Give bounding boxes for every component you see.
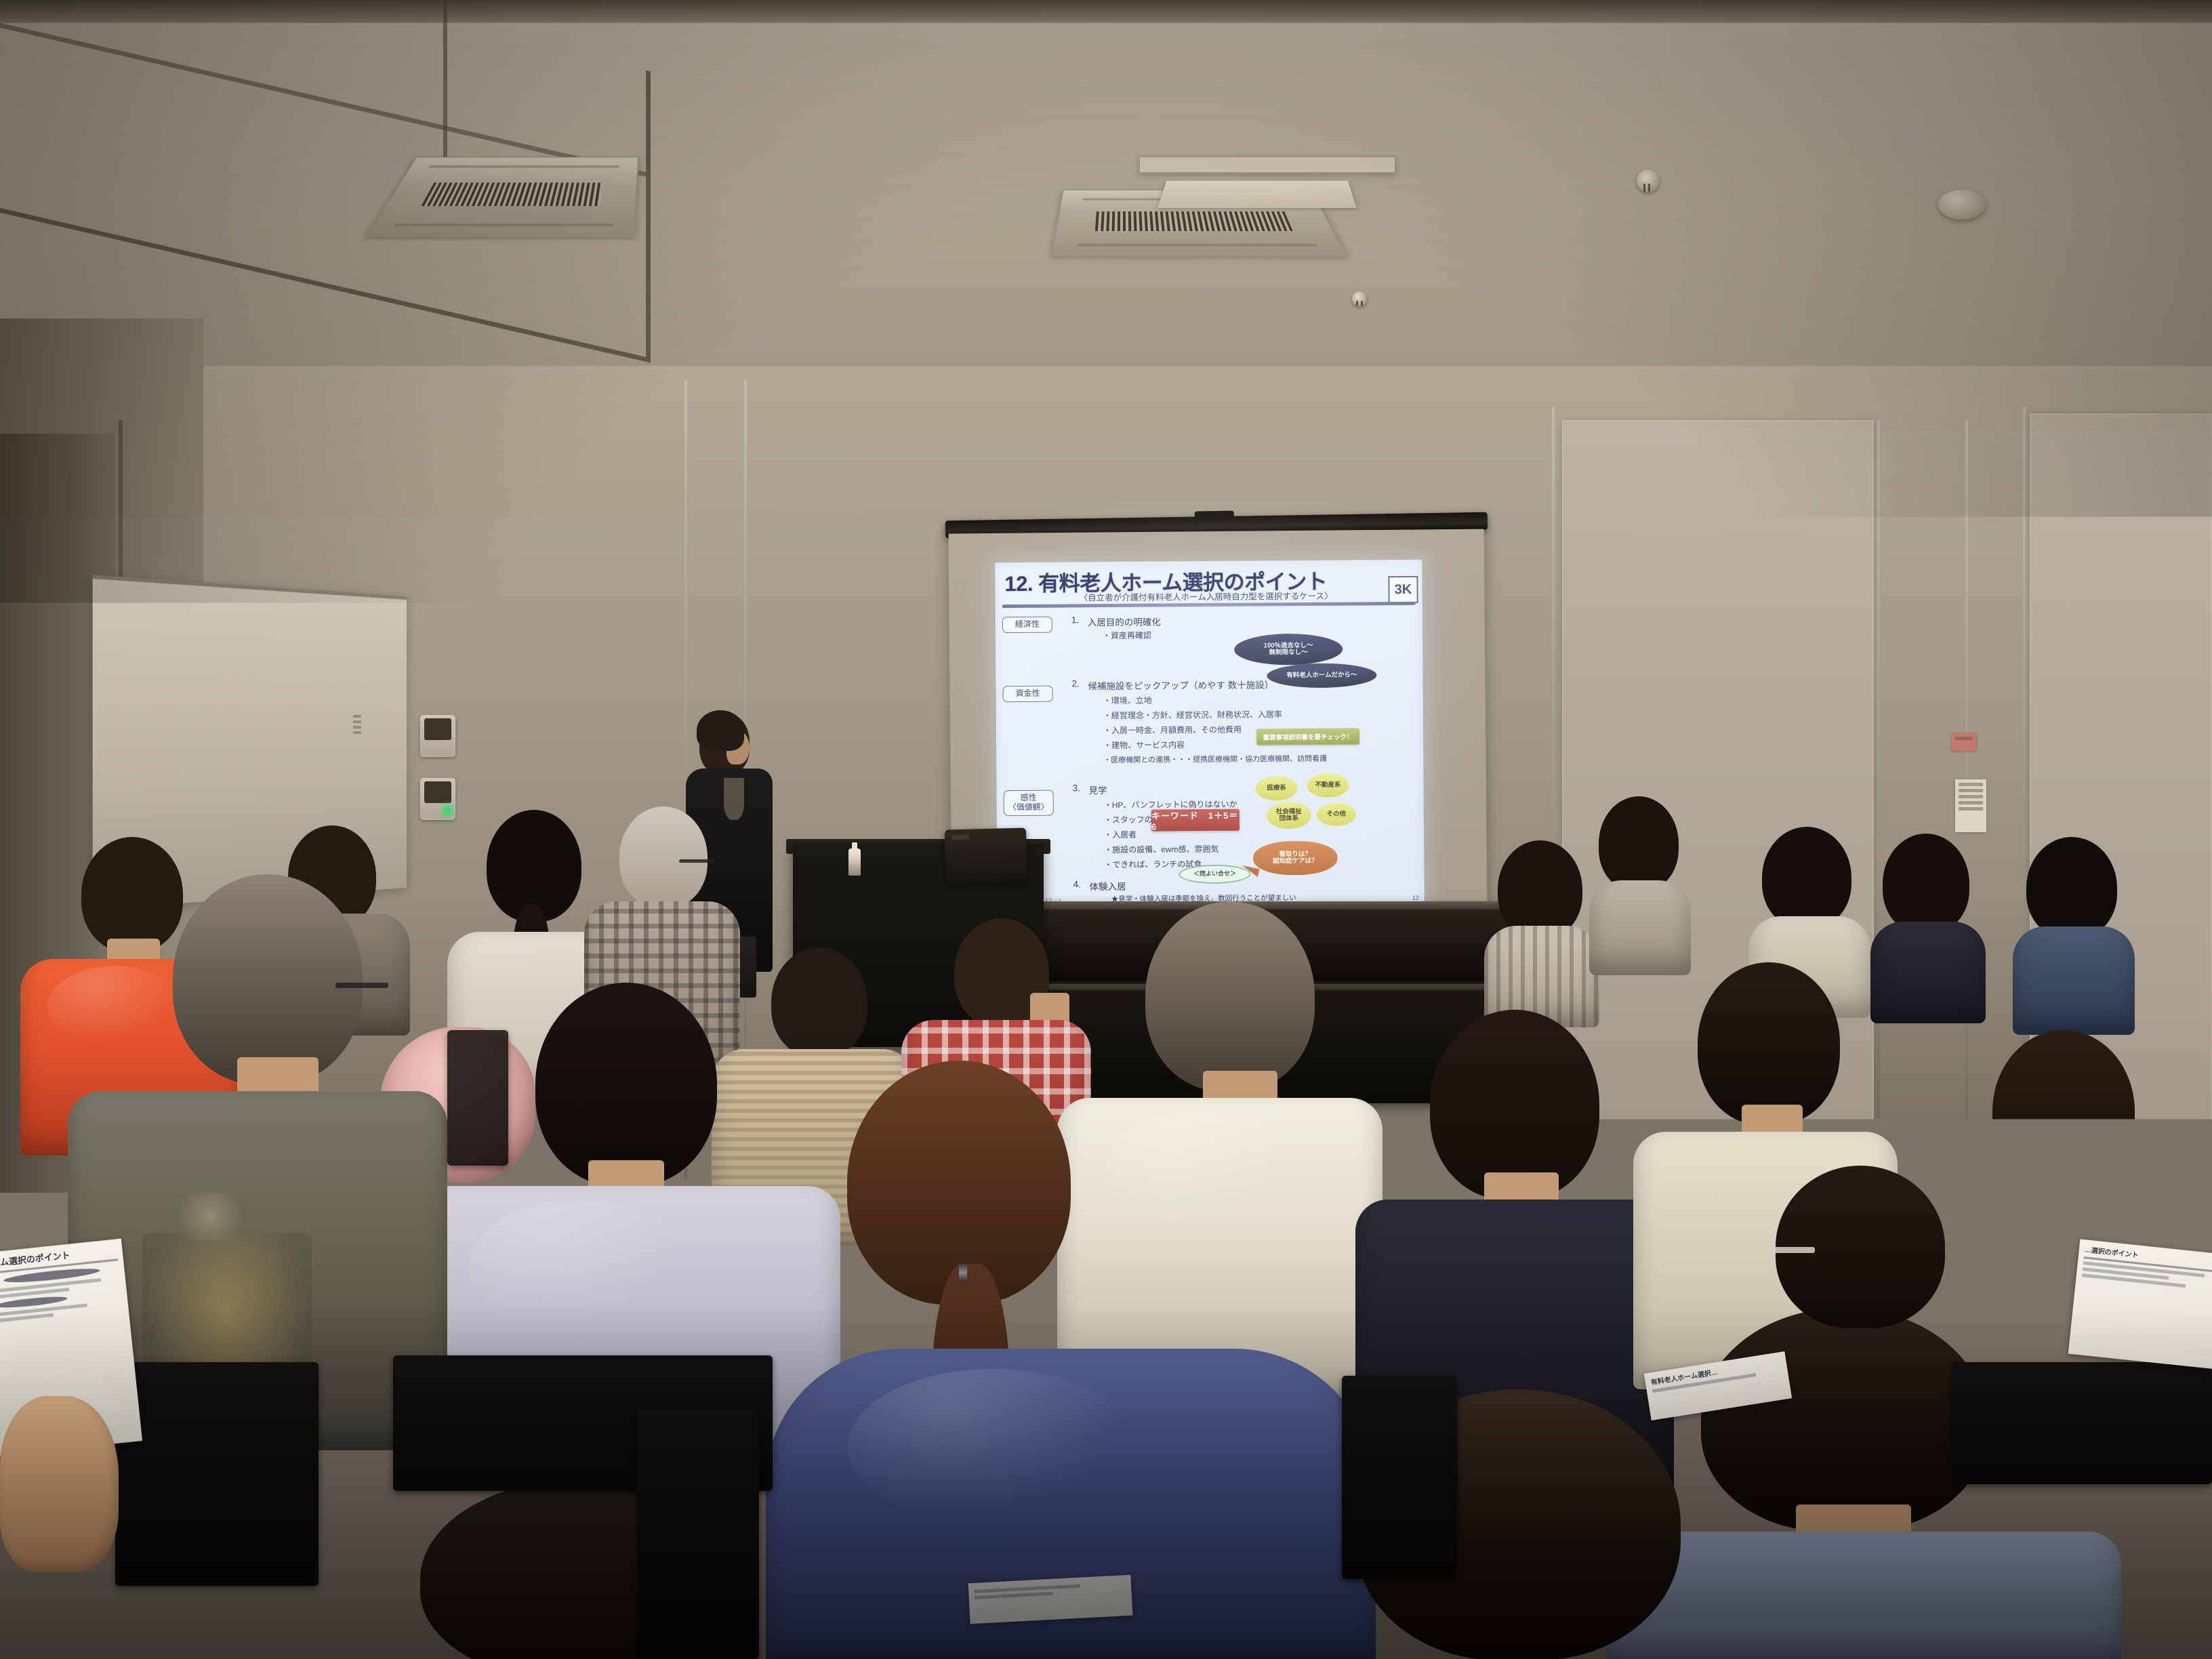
attendee-torso — [1589, 880, 1691, 975]
stacking-chair[interactable] — [447, 1030, 508, 1166]
slide-callout-yellow-3: 社会福祉 団体系 — [1267, 802, 1311, 829]
attendee-back-row — [1589, 796, 1691, 959]
slide-section-2-bullet-3: ・入居一時金、月額費用、その他費用 — [1103, 724, 1242, 736]
switch-button[interactable] — [424, 718, 451, 740]
slide-callout-green-bar: 重要事項説明書を要チェック！ — [1256, 728, 1359, 745]
stacking-chair[interactable] — [637, 1410, 759, 1659]
slide-callout-yellow-4: その他 — [1317, 802, 1356, 825]
attendee-head — [619, 806, 708, 908]
attendee-head — [1599, 796, 1679, 891]
wall-notice-sign — [350, 712, 365, 754]
eyeglasses — [679, 859, 714, 863]
slide-callout-yellow-2: 不動産系 — [1307, 773, 1349, 798]
tshirt-graphic-detail — [169, 1193, 251, 1240]
hand-holding-handout — [0, 1396, 119, 1572]
slide-subtitle: 〈自立者が介護付有料老人ホーム入居時自力型を選択するケース〉 — [1027, 588, 1386, 604]
hair-clip — [959, 1264, 967, 1282]
handout-far-right[interactable]: …選択のポイント — [2068, 1239, 2212, 1370]
slide-callout-mint-bubble: ＜問よい合せ＞ — [1179, 865, 1250, 884]
attendee-head — [1698, 962, 1840, 1125]
attendee-head — [1498, 840, 1582, 939]
sprinkler-head — [1637, 169, 1660, 192]
projected-slide: 12. 有料老人ホーム選択のポイント 3K 〈自立者が介護付有料老人ホーム入居時… — [995, 560, 1425, 907]
slide-section-2-heading: 候補施設をピックアップ（めやす 数十施設） — [1088, 677, 1273, 692]
wall-control-switch[interactable] — [420, 715, 455, 757]
hvac-vent — [1139, 156, 1396, 173]
sprinkler-head — [1352, 291, 1367, 306]
slide-badge: 3K — [1388, 576, 1418, 603]
attendee-head — [535, 983, 717, 1186]
presenter-hair — [697, 710, 744, 751]
slide-callout-red-bar: キーワード 1＋5＝6 — [1151, 809, 1240, 832]
slide-section-3-bullet-3: ・入居者 — [1104, 829, 1136, 840]
slide-section-1-heading: 入居目的の明確化 — [1088, 614, 1161, 628]
slide-tag-funding: 資金性 — [1003, 686, 1053, 702]
attendee-head — [173, 874, 363, 1084]
attendee-head — [1992, 1030, 2135, 1193]
slide-callout-navy-1: 100％退去なし～ 無制限なし～ — [1234, 634, 1343, 665]
slide-callout-orange-bubble: 看取りは？ 認知症ケアは？ — [1253, 841, 1337, 876]
slide-section-4-heading: 体験入居 — [1089, 879, 1126, 893]
stacking-chair[interactable] — [1952, 1362, 2212, 1484]
attendee-head — [1762, 827, 1851, 928]
slide-section-2-bullet-1: ・環境、立地 — [1103, 695, 1152, 707]
slide-tag-economy: 経済性 — [1002, 617, 1052, 633]
water-bottle — [848, 848, 861, 876]
wall-notice-sign — [1952, 733, 1976, 751]
eyeglasses — [1767, 1247, 1815, 1253]
attendee-head — [1430, 1010, 1599, 1200]
attendee-head — [2026, 837, 2117, 939]
seminar-room-photo: 12. 有料老人ホーム選択のポイント 3K 〈自立者が介護付有料老人ホーム入居時… — [0, 0, 2212, 1659]
attendee-head — [1883, 834, 1969, 934]
smoke-detector — [1938, 190, 1986, 220]
slide-tag-sensitivity: 感性 〈価値観〉 — [1004, 790, 1054, 816]
attendee-back-row — [1484, 840, 1599, 1017]
slide-section-3-bullet-4: ・施設の設備、ewm感、雰囲気 — [1104, 843, 1218, 855]
slide-callout-navy-2: 有料老人ホームだから～ — [1267, 663, 1376, 688]
ceiling-paper-sign — [1158, 181, 1357, 208]
slide-section-3-number: 3. — [1073, 783, 1080, 793]
handout-on-table[interactable] — [968, 1575, 1133, 1624]
eyeglasses — [335, 983, 388, 988]
slide-callout-yellow-1: 医療系 — [1255, 776, 1297, 800]
stacking-chair[interactable] — [115, 1362, 319, 1586]
laptop-computer[interactable] — [945, 827, 1027, 884]
switch-button[interactable] — [424, 781, 451, 803]
slide-page-number: 12 — [1412, 895, 1419, 901]
stacking-chair[interactable] — [1342, 1376, 1457, 1579]
attendee-torso — [2013, 926, 2135, 1035]
slide-section-2-bullet-5: ・医療機関との連携・・・提携医療機関・協力医療機関、訪問看護 — [1103, 753, 1327, 765]
slide-section-2-number: 2. — [1071, 678, 1079, 689]
slide-section-2-bullet-2: ・経営理念・方針、経営状況、財務状況、入居率 — [1103, 708, 1282, 721]
slide-section-4-number: 4. — [1073, 879, 1080, 889]
wall-notice-sign — [1955, 779, 1986, 832]
attendee-head — [1145, 901, 1315, 1091]
slide-section-2-bullet-4: ・建物、サービス内容 — [1103, 739, 1185, 751]
slide-section-1-bullet-1: ・資産再確認 — [1103, 630, 1151, 642]
attendee-back-row — [2013, 837, 2135, 1013]
slide-section-3-heading: 見学 — [1089, 783, 1107, 796]
slide-section-1-number: 1. — [1071, 615, 1079, 625]
